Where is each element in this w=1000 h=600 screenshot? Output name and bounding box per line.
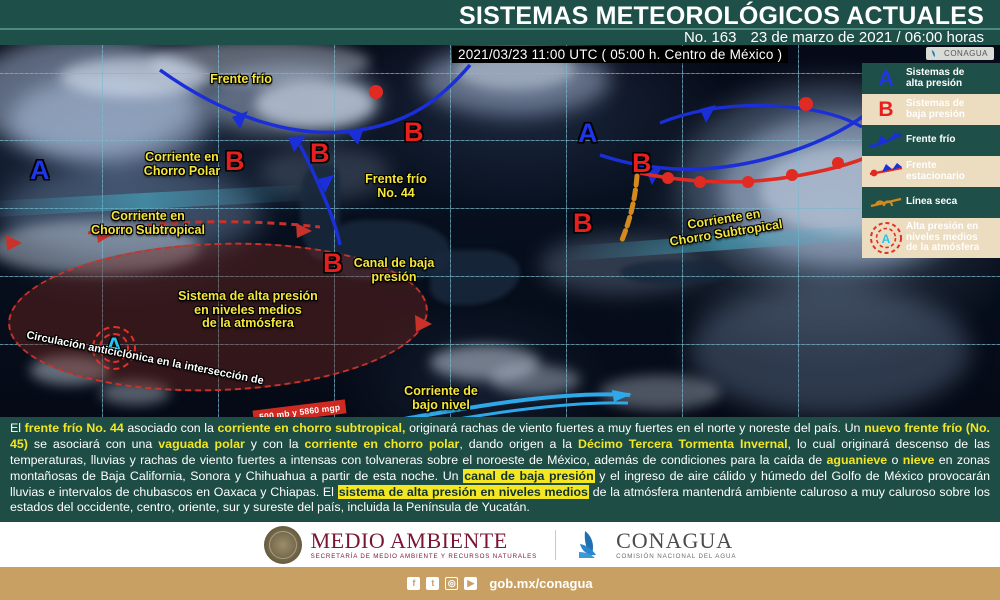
bulletin-meta: No. 16323 de marzo de 2021 / 06:00 horas <box>684 29 984 46</box>
conagua-eagle-wave-icon <box>574 528 608 562</box>
map-label-frente-frio: Frente frío <box>196 73 286 87</box>
facebook-icon[interactable]: f <box>407 577 420 590</box>
mid-level-high-icon: A <box>866 218 906 258</box>
legend-item-alta-presion[interactable]: A Sistemas de alta presión <box>862 63 1000 94</box>
map-label-canal-baja-presion: Canal de baja presión <box>340 257 448 284</box>
legend-item-alta-presion-niveles-medios[interactable]: A Alta presión en niveles medios de la a… <box>862 218 1000 258</box>
bulletin-number: No. 163 <box>684 29 737 46</box>
youtube-icon[interactable]: ▶ <box>464 577 477 590</box>
ministry-name: MEDIO AMBIENTE <box>311 529 538 552</box>
legend-item-baja-presion[interactable]: B Sistemas de baja presión <box>862 94 1000 125</box>
legend-label: Frente estacionario <box>906 161 965 183</box>
pressure-symbol-low: B <box>573 210 593 237</box>
map-label-frente-frio-44: Frente frío No. 44 <box>348 173 444 200</box>
agency-name: CONAGUA <box>616 529 736 552</box>
twitter-icon[interactable]: t <box>426 577 439 590</box>
pressure-symbol-low: B <box>323 250 343 277</box>
legend-label: Frente frío <box>906 135 955 146</box>
conagua-logo: CONAGUA COMISIÓN NACIONAL DEL AGUA <box>574 528 736 562</box>
legend-item-linea-seca[interactable]: Línea seca <box>862 187 1000 218</box>
map-label-sistema-alta-presion: Sistema de alta presión en niveles medio… <box>148 290 348 331</box>
conagua-watermark-label: CONAGUA <box>944 49 988 58</box>
page-title: SISTEMAS METEOROLÓGICOS ACTUALES <box>459 2 984 31</box>
bulletin-datetime: 23 de marzo de 2021 / 06:00 horas <box>751 29 985 46</box>
cold-front-icon <box>866 125 906 156</box>
pressure-symbol-high: A <box>578 120 598 147</box>
map-label-corriente-chorro-subtropical-oeste: Corriente en Chorro Subtropical <box>78 210 218 237</box>
map-timestamp: 2021/03/23 11:00 UTC ( 05:00 h. Centro d… <box>452 46 788 63</box>
conagua-watermark: CONAGUA <box>926 47 994 60</box>
agency-subtitle: COMISIÓN NACIONAL DEL AGUA <box>616 553 736 560</box>
forecast-paragraph: El frente frío No. 44 asociado con la co… <box>10 421 990 516</box>
A-symbol-icon: A <box>866 63 906 94</box>
map-label-corriente-chorro-polar: Corriente en Chorro Polar <box>122 151 242 178</box>
stationary-front-icon <box>866 156 906 187</box>
pressure-symbol-low: B <box>225 148 245 175</box>
pressure-symbol-low: B <box>404 119 424 146</box>
pressure-symbol-low: B <box>310 140 330 167</box>
national-seal-icon <box>264 526 302 564</box>
svg-text:A: A <box>882 232 891 246</box>
instagram-icon[interactable]: ◎ <box>445 577 458 590</box>
forecast-text: El frente frío No. 44 asociado con la co… <box>0 417 1000 522</box>
legend-item-frente-frio[interactable]: Frente frío <box>862 125 1000 156</box>
B-symbol-icon: B <box>866 94 906 125</box>
footer-logos: MEDIO AMBIENTE SECRETARÍA DE MEDIO AMBIE… <box>0 522 1000 567</box>
social-url: gob.mx/conagua <box>489 576 592 591</box>
map-label-corriente-bajo-nivel: Corriente de bajo nivel <box>386 385 496 412</box>
pressure-symbol-low: B <box>632 150 652 177</box>
social-bar: f t ◎ ▶ gob.mx/conagua <box>0 567 1000 600</box>
weather-bulletin-page: SISTEMAS METEOROLÓGICOS ACTUALES No. 163… <box>0 0 1000 600</box>
map-legend: A Sistemas de alta presión B Sistemas de… <box>862 63 1000 258</box>
ministry-logo: MEDIO AMBIENTE SECRETARÍA DE MEDIO AMBIE… <box>264 526 538 564</box>
conagua-wave-icon <box>929 48 940 59</box>
legend-item-frente-estacionario[interactable]: Frente estacionario <box>862 156 1000 187</box>
legend-label: Línea seca <box>906 197 957 208</box>
dry-line-icon <box>866 187 906 218</box>
footer-divider <box>555 530 556 560</box>
legend-label: Alta presión en niveles medios de la atm… <box>906 222 979 254</box>
legend-label: Sistemas de alta presión <box>906 68 964 90</box>
satellite-map[interactable]: A 500 mb y 5860 mgp <box>0 45 1000 417</box>
legend-label: Sistemas de baja presión <box>906 99 965 121</box>
ministry-subtitle: SECRETARÍA DE MEDIO AMBIENTE Y RECURSOS … <box>311 553 538 560</box>
page-header: SISTEMAS METEOROLÓGICOS ACTUALES No. 163… <box>0 0 1000 45</box>
pressure-symbol-high: A <box>30 157 50 184</box>
